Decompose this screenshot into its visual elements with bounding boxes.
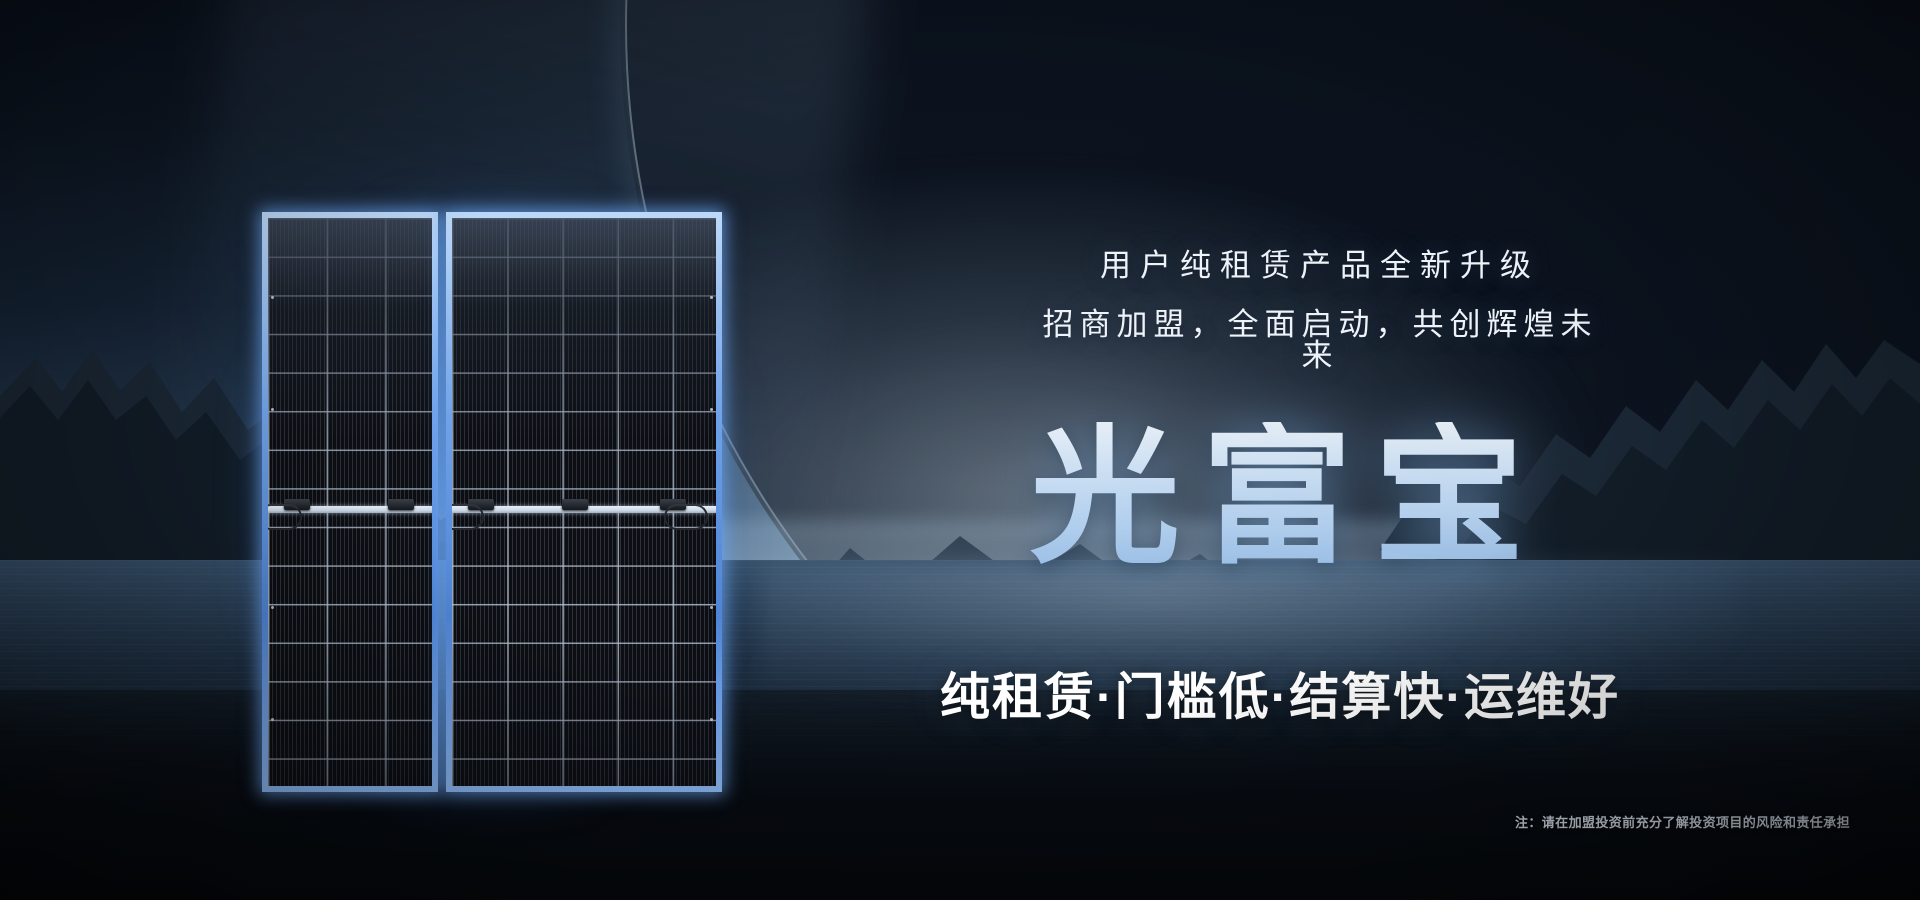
solar-cells-right [452, 218, 716, 786]
cable-loop-right-1 [452, 504, 484, 530]
junction-box-right-2 [562, 499, 588, 510]
headline-block: 用户纯租赁产品全新升级 招商加盟，全面启动，共创辉煌未来 [1040, 250, 1600, 371]
frame-screw [710, 718, 713, 721]
tagline: 纯租赁·门槛低·结算快·运维好 [780, 672, 1780, 722]
brand-name: 光富宝 [1030, 422, 1670, 572]
headline-line-1: 用户纯租赁产品全新升级 [1040, 250, 1600, 281]
frame-screw [710, 606, 713, 609]
frame-screw [271, 606, 274, 609]
frame-screw [271, 718, 274, 721]
frame-screw [271, 296, 274, 299]
headline-line-2: 招商加盟，全面启动，共创辉煌未来 [1040, 309, 1600, 371]
cable-loop-right-2 [664, 504, 708, 530]
solar-module-right [446, 212, 722, 792]
solar-module-left [262, 212, 438, 792]
solar-cells-left [268, 218, 432, 786]
promo-poster: 用户纯租赁产品全新升级 招商加盟，全面启动，共创辉煌未来 光富宝 纯租赁·门槛低… [0, 0, 1920, 900]
frame-screw [710, 408, 713, 411]
junction-box-left-2 [388, 499, 414, 510]
cable-loop-left [268, 504, 302, 530]
solar-panel-assembly [262, 212, 722, 792]
frame-screw [271, 408, 274, 411]
frame-screw [710, 296, 713, 299]
disclaimer-note: 注：请在加盟投资前充分了解投资项目的风险和责任承担 [1515, 812, 1850, 831]
